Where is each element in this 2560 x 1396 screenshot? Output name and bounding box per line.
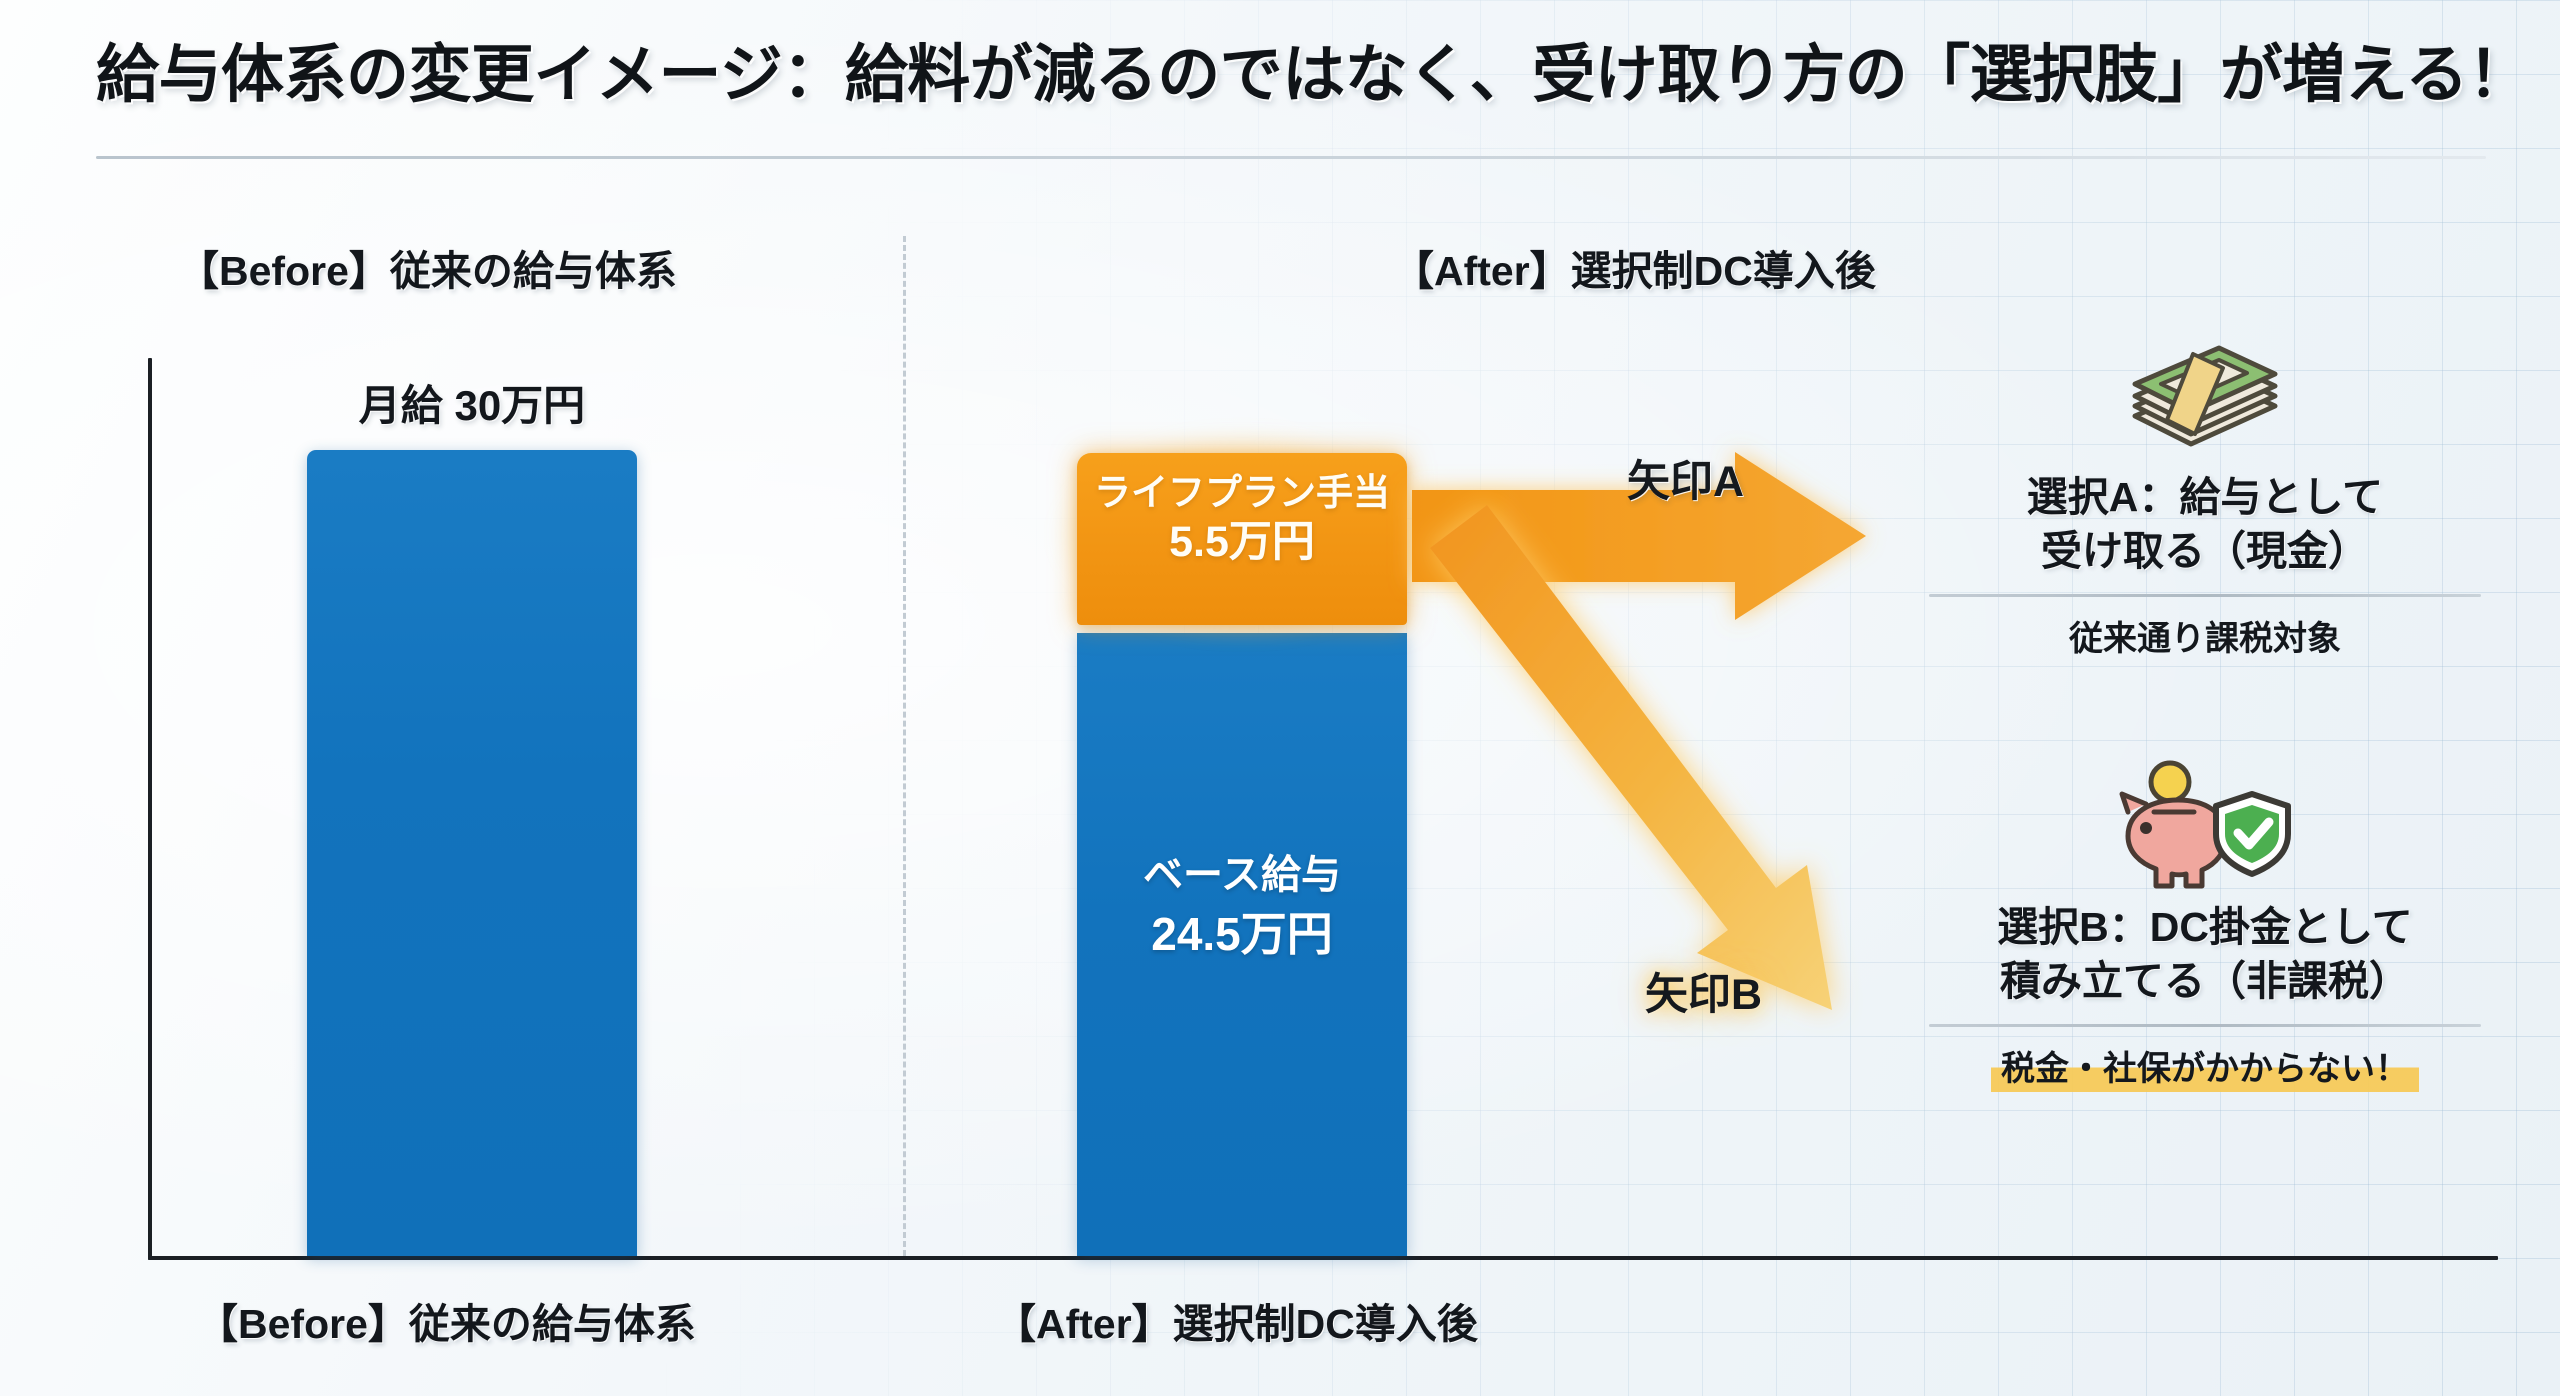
- option-b-title-line1: 選択B：DC掛金として: [1905, 900, 2505, 954]
- option-b-title-line2: 積み立てる（非課税）: [1905, 954, 2505, 1008]
- title-divider: [96, 156, 2486, 159]
- page-title: 給与体系の変更イメージ：給料が減るのではなく、受け取り方の「選択肢」が増える！: [96, 24, 2496, 115]
- chart-y-axis: [148, 358, 152, 1260]
- after-allowance-name: ライフプラン手当: [1077, 471, 1407, 515]
- before-salary-bar: [307, 450, 637, 1256]
- arrow-a-label: 矢印A: [1627, 447, 1744, 509]
- after-base-salary-name: ベース給与: [1077, 851, 1407, 900]
- option-b-note: 税金・社保がかからない！: [1991, 1039, 2419, 1092]
- option-b-divider: [1929, 1024, 2481, 1027]
- before-after-divider: [903, 236, 906, 1256]
- after-allowance-value: 5.5万円: [1077, 517, 1407, 569]
- x-tick-after: 【After】選択制DC導入後: [995, 1290, 1478, 1350]
- option-a-title-line1: 選択A：給与として: [1905, 470, 2505, 524]
- option-a-divider: [1929, 594, 2481, 597]
- option-a-title-line2: 受け取る（現金）: [1905, 524, 2505, 578]
- option-b-title: 選択B：DC掛金として 積み立てる（非課税）: [1905, 900, 2505, 1008]
- piggy-bank-shield-icon: [1905, 760, 2505, 890]
- money-stack-icon: [1905, 330, 2505, 460]
- after-allowance-segment: ライフプラン手当 5.5万円: [1077, 453, 1407, 625]
- option-a-note: 従来通り課税対象: [2059, 609, 2351, 662]
- before-section-header: 【Before】従来の給与体系: [178, 237, 677, 297]
- arrow-b-to-dc: [1430, 505, 1832, 1010]
- after-base-salary-segment: ベース給与 24.5万円: [1077, 633, 1407, 1256]
- option-a-panel: 選択A：給与として 受け取る（現金） 従来通り課税対象: [1905, 330, 2505, 662]
- option-b-panel: 選択B：DC掛金として 積み立てる（非課税） 税金・社保がかからない！: [1905, 760, 2505, 1092]
- chart-x-axis: [148, 1256, 2498, 1260]
- after-section-header: 【After】選択制DC導入後: [1393, 237, 1876, 297]
- before-bar-value-label: 月給 30万円: [307, 372, 637, 433]
- option-a-title: 選択A：給与として 受け取る（現金）: [1905, 470, 2505, 578]
- after-base-salary-value: 24.5万円: [1077, 906, 1407, 962]
- after-allowance-text: ライフプラン手当 5.5万円: [1077, 471, 1407, 569]
- after-base-salary-text: ベース給与 24.5万円: [1077, 851, 1407, 962]
- infographic-canvas: 給与体系の変更イメージ：給料が減るのではなく、受け取り方の「選択肢」が増える！ …: [0, 0, 2560, 1396]
- x-tick-before: 【Before】従来の給与体系: [197, 1290, 696, 1350]
- arrow-b-label: 矢印B: [1645, 960, 1762, 1022]
